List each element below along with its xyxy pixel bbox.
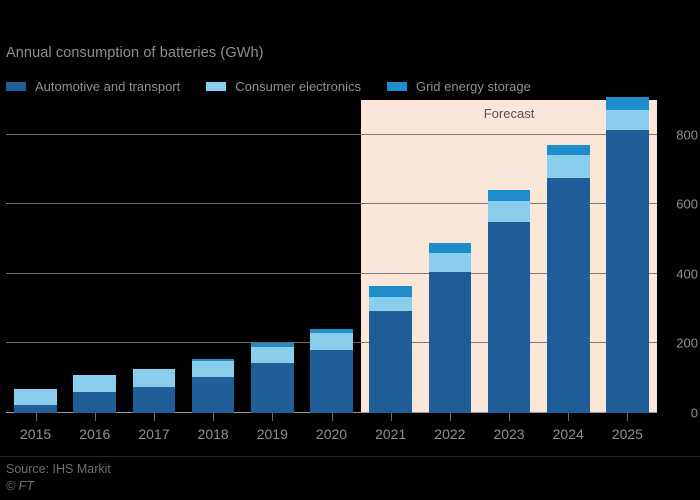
legend-label-grid-energy-storage: Grid energy storage (416, 79, 531, 94)
footer-divider (0, 456, 700, 457)
x-tick-label-2016: 2016 (79, 426, 110, 442)
bar-group-2023[interactable] (488, 190, 531, 413)
bar-segment (488, 222, 531, 413)
bar-segment (547, 178, 590, 413)
bar-segment (192, 377, 235, 413)
x-tickmark-2016 (95, 413, 96, 421)
x-tickmark-2023 (509, 413, 510, 421)
legend-swatch-consumer-electronics (206, 82, 226, 91)
x-tick-label-2015: 2015 (20, 426, 51, 442)
chart-legend: Automotive and transport Consumer electr… (6, 77, 557, 95)
bar-segment (429, 243, 472, 253)
bar-segment (310, 350, 353, 413)
bar-segment (133, 369, 176, 387)
bar-series-container (6, 100, 657, 413)
copyright-note: © FT (6, 479, 34, 493)
y-tick-label-0: 0 (691, 406, 698, 421)
bar-group-2021[interactable] (369, 286, 412, 413)
bar-segment (14, 405, 57, 413)
legend-item-consumer-electronics[interactable]: Consumer electronics (206, 79, 361, 94)
y-tick-label-800: 800 (676, 127, 698, 142)
y-tick-label-200: 200 (676, 336, 698, 351)
bar-segment (192, 361, 235, 377)
bar-segment (488, 201, 531, 222)
bar-segment (429, 272, 472, 413)
bar-segment (606, 130, 649, 413)
bar-segment (251, 363, 294, 413)
bar-segment (133, 387, 176, 413)
bar-group-2024[interactable] (547, 145, 590, 413)
bar-segment (310, 329, 353, 333)
y-axis: 0200400600800 (659, 100, 700, 413)
x-tick-label-2018: 2018 (198, 426, 229, 442)
x-tickmark-2025 (627, 413, 628, 421)
y-tick-label-400: 400 (676, 266, 698, 281)
legend-item-automotive-and-transport[interactable]: Automotive and transport (6, 79, 180, 94)
bar-segment (369, 311, 412, 413)
x-tickmark-2020 (332, 413, 333, 421)
bar-segment (369, 286, 412, 296)
x-tickmark-2019 (272, 413, 273, 421)
bar-group-2017[interactable] (133, 369, 176, 413)
legend-swatch-grid-energy-storage (387, 82, 407, 91)
bar-segment (251, 343, 294, 346)
bar-group-2018[interactable] (192, 359, 235, 413)
chart-root: Annual consumption of batteries (GWh) Au… (0, 0, 700, 500)
legend-label-consumer-electronics: Consumer electronics (235, 79, 361, 94)
y-tick-label-600: 600 (676, 197, 698, 212)
x-axis: 2015201620172018201920202021202220232024… (6, 413, 657, 453)
bar-group-2016[interactable] (73, 375, 116, 413)
bar-segment (14, 389, 57, 404)
bar-segment (606, 110, 649, 129)
plot-area: Forecast (6, 100, 657, 413)
bar-segment (73, 375, 116, 392)
bar-segment (547, 155, 590, 178)
bar-segment (606, 97, 649, 110)
x-tickmark-2021 (391, 413, 392, 421)
x-tick-label-2022: 2022 (434, 426, 465, 442)
x-tickmark-2022 (450, 413, 451, 421)
x-tick-label-2019: 2019 (257, 426, 288, 442)
x-tick-label-2017: 2017 (138, 426, 169, 442)
bar-segment (192, 359, 235, 361)
x-tick-label-2025: 2025 (612, 426, 643, 442)
bar-group-2020[interactable] (310, 329, 353, 413)
x-tick-label-2021: 2021 (375, 426, 406, 442)
bar-segment (429, 253, 472, 271)
bar-group-2025[interactable] (606, 97, 649, 413)
page-title: Annual consumption of batteries (GWh) (6, 45, 264, 61)
bar-group-2019[interactable] (251, 343, 294, 413)
bar-group-2022[interactable] (429, 243, 472, 413)
bar-segment (488, 190, 531, 201)
bar-segment (310, 333, 353, 350)
bar-segment (251, 347, 294, 363)
x-tick-label-2024: 2024 (553, 426, 584, 442)
bar-segment (547, 145, 590, 155)
x-tick-label-2020: 2020 (316, 426, 347, 442)
bar-segment (369, 297, 412, 311)
legend-swatch-automotive-and-transport (6, 82, 26, 91)
x-tickmark-2017 (154, 413, 155, 421)
legend-label-automotive-and-transport: Automotive and transport (35, 79, 180, 94)
x-tick-label-2023: 2023 (493, 426, 524, 442)
source-note: Source: IHS Markit (6, 462, 111, 476)
legend-item-grid-energy-storage[interactable]: Grid energy storage (387, 79, 531, 94)
x-tickmark-2015 (36, 413, 37, 421)
bar-segment (73, 392, 116, 413)
bar-group-2015[interactable] (14, 389, 57, 413)
x-tickmark-2024 (568, 413, 569, 421)
x-tickmark-2018 (213, 413, 214, 421)
